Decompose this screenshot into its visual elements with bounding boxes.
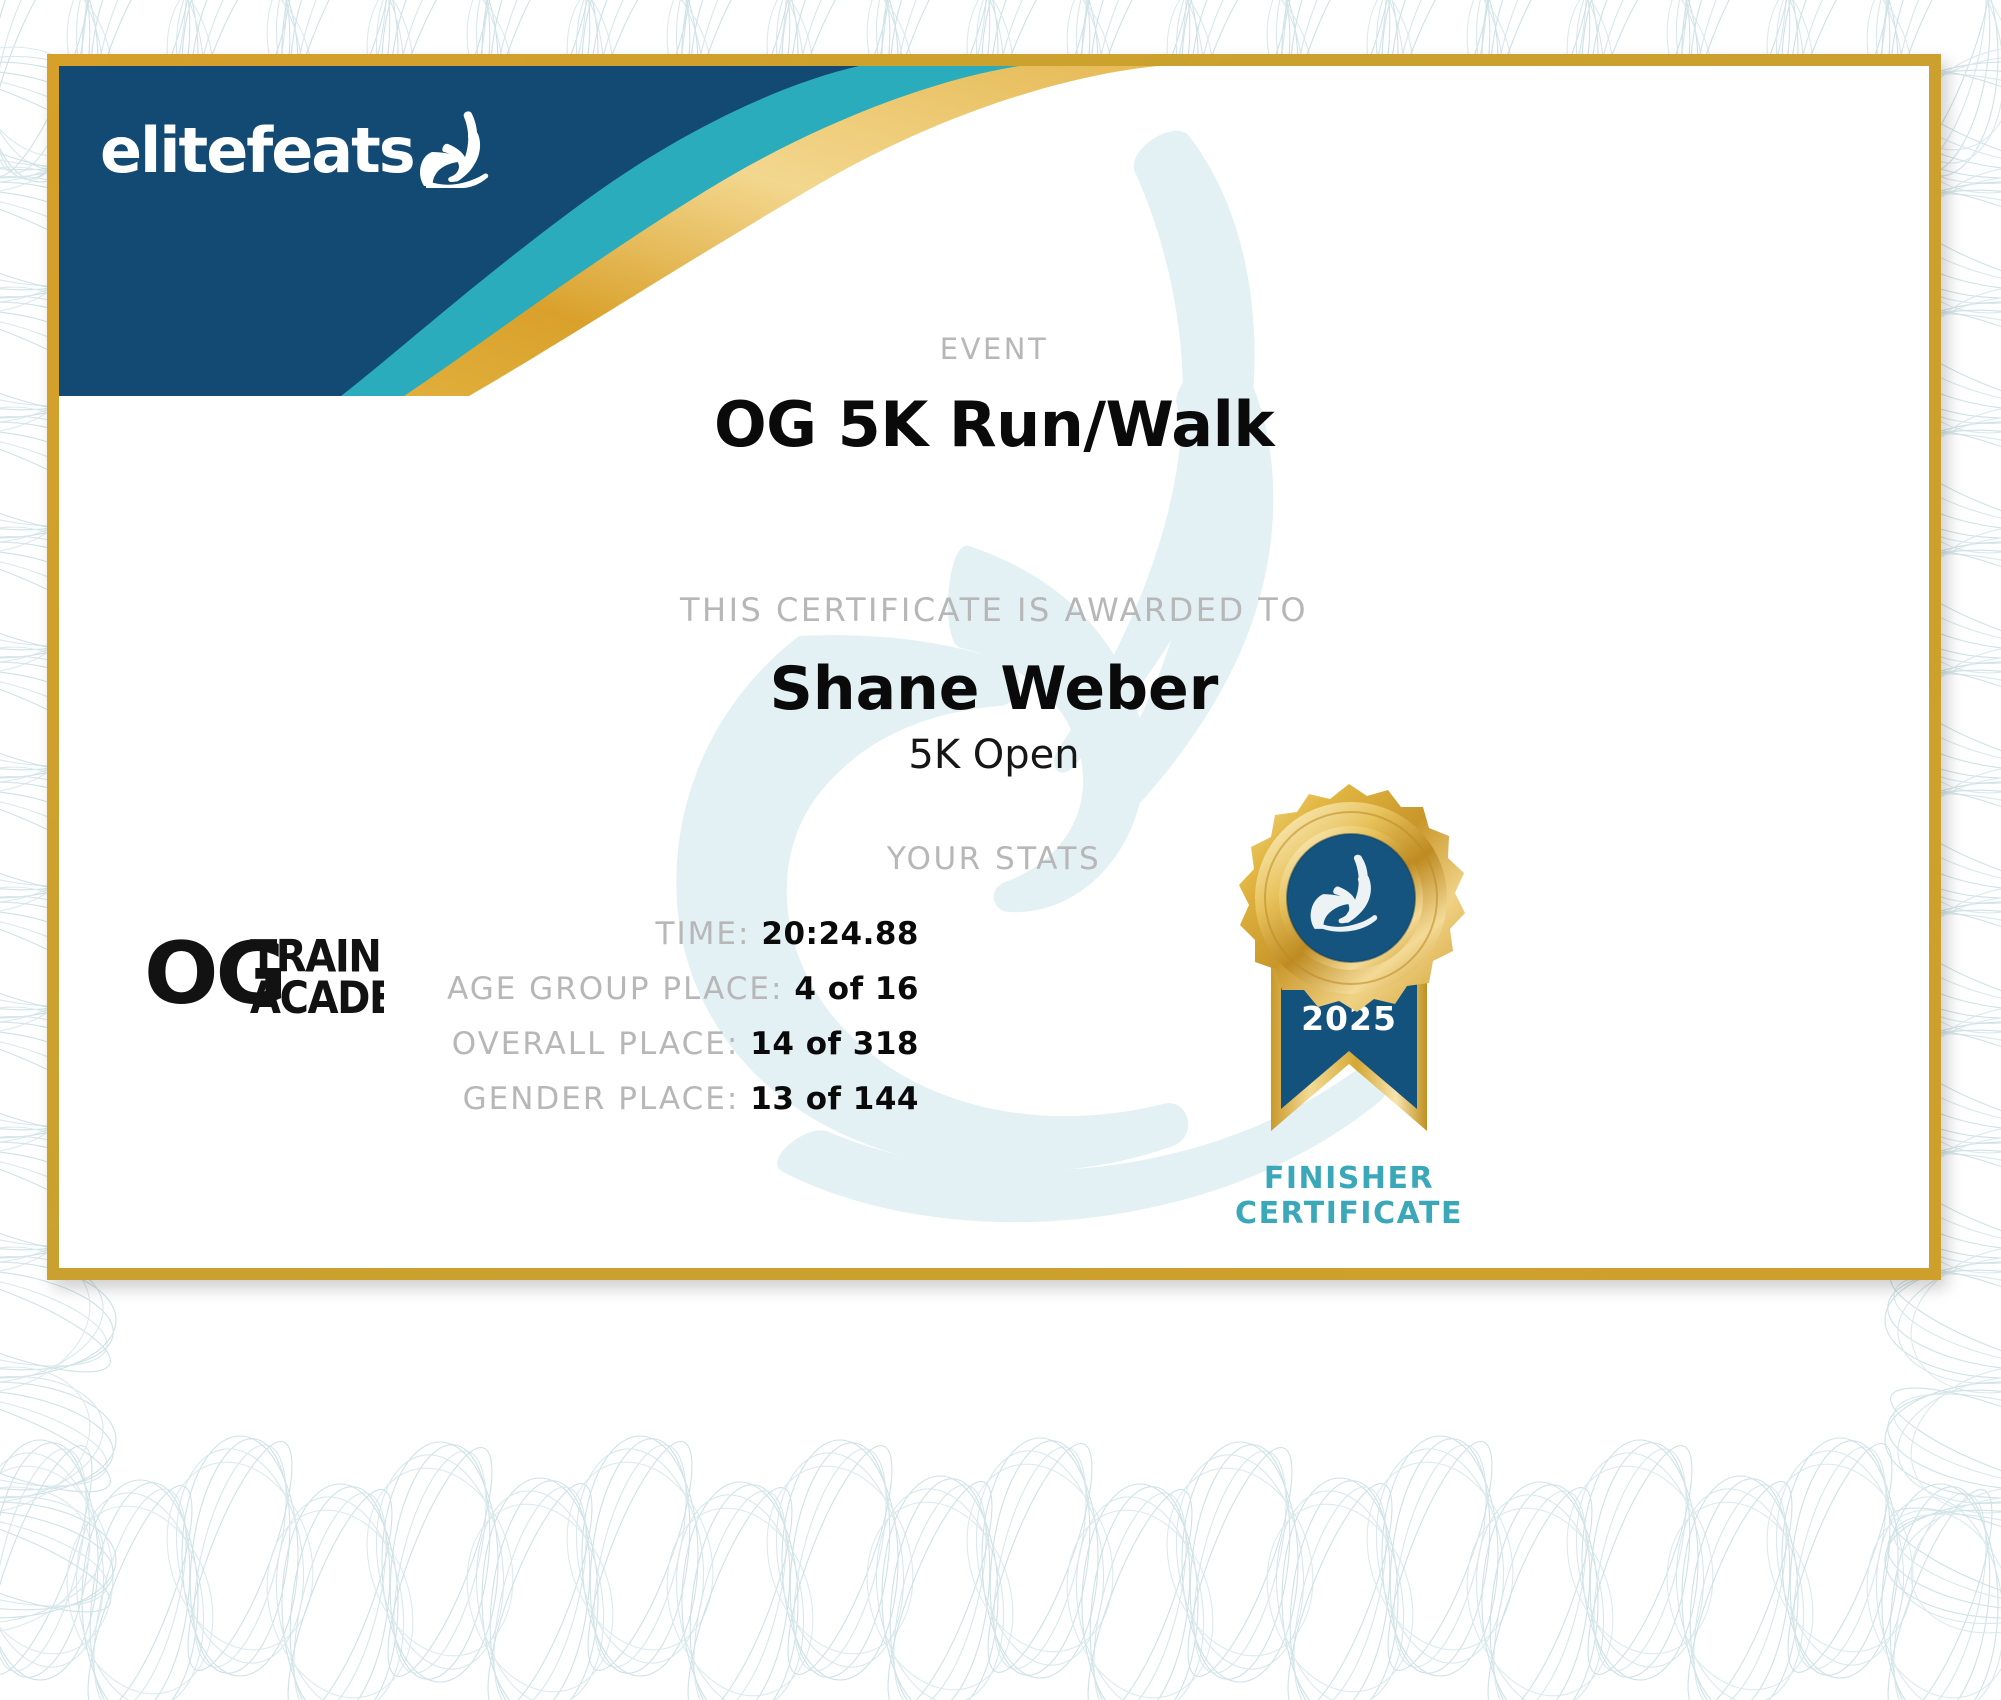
- stat-row-time: TIME: 20:24.88: [359, 916, 919, 952]
- stat-row-overall-place: OVERALL PLACE: 14 of 318: [359, 1026, 919, 1062]
- badge-caption-line2: CERTIFICATE: [1164, 1196, 1534, 1231]
- stat-value-time: 20:24.88: [761, 916, 919, 952]
- stat-value-overall-place: 14 of 318: [750, 1026, 919, 1062]
- stat-row-gender-place: GENDER PLACE: 13 of 144: [359, 1081, 919, 1117]
- your-stats-label: YOUR STATS: [59, 841, 1929, 877]
- certificate-canvas: elitefeats EVENT OG 5K Run/Walk THIS CER…: [59, 66, 1929, 1268]
- stat-label-age-group-place: AGE GROUP PLACE:: [447, 971, 783, 1007]
- awarded-to-label: THIS CERTIFICATE IS AWARDED TO: [59, 591, 1929, 629]
- stat-row-age-group-place: AGE GROUP PLACE: 4 of 16: [359, 971, 919, 1007]
- stat-value-gender-place: 13 of 144: [750, 1081, 919, 1117]
- stats-list: TIME: 20:24.88 AGE GROUP PLACE: 4 of 16 …: [359, 916, 919, 1136]
- recipient-name: Shane Weber: [59, 654, 1929, 724]
- stat-label-time: TIME:: [656, 916, 751, 952]
- badge-caption-line1: FINISHER: [1164, 1161, 1534, 1196]
- certificate-page: elitefeats EVENT OG 5K Run/Walk THIS CER…: [0, 0, 2001, 1700]
- stat-label-gender-place: GENDER PLACE:: [463, 1081, 740, 1117]
- badge-caption: FINISHER CERTIFICATE: [1164, 1161, 1534, 1232]
- finisher-medal-badge: 2025: [1199, 776, 1499, 1176]
- og-training-academy-logo: OG TRAINING ACADEMY: [144, 921, 384, 1026]
- event-label: EVENT: [59, 332, 1929, 366]
- division-name: 5K Open: [59, 732, 1929, 778]
- event-name: OG 5K Run/Walk: [59, 388, 1929, 461]
- stat-value-age-group-place: 4 of 16: [794, 971, 919, 1007]
- certificate-content: EVENT OG 5K Run/Walk THIS CERTIFICATE IS…: [59, 66, 1929, 1268]
- stat-label-overall-place: OVERALL PLACE:: [452, 1026, 740, 1062]
- og-logo-line2: ACADEMY: [250, 972, 384, 1023]
